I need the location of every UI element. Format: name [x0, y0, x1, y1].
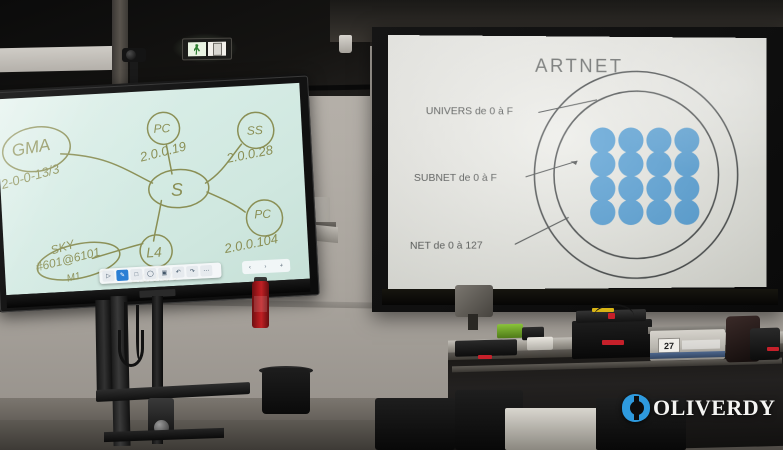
svg-text:SS: SS — [246, 123, 263, 138]
page-next-icon[interactable]: › — [264, 263, 266, 269]
coiled-cable — [118, 330, 144, 367]
artnet-diagram — [388, 35, 766, 290]
subnet-label: SUBNET de 0 à F — [414, 172, 497, 184]
rack-handle-red — [602, 340, 624, 345]
crate-number-tag: 27 — [658, 338, 680, 354]
page-add-icon[interactable]: + — [280, 263, 284, 269]
wall-light-panel — [0, 46, 122, 73]
univers-label: UNIVERS de 0 à F — [426, 105, 513, 117]
equipment-item-fixture — [750, 328, 780, 361]
page-prev-icon[interactable]: ‹ — [249, 264, 251, 270]
svg-text:GMA: GMA — [10, 135, 51, 160]
net-label: NET de 0 à 127 — [410, 240, 483, 252]
wall-mounted-device-secondary — [316, 225, 338, 243]
camera-lens-icon — [126, 50, 136, 60]
floor-case-left — [375, 398, 455, 450]
oliverdy-logo: OLIVERDY — [622, 394, 776, 422]
smoke-detector — [339, 35, 352, 53]
oliverdy-logo-mark-icon — [622, 394, 650, 422]
svg-text:L4: L4 — [146, 244, 163, 261]
image-tool-icon[interactable]: ▣ — [158, 267, 171, 279]
projection-screen-bottom-bar — [382, 289, 778, 305]
fixture-red-indicator — [767, 347, 779, 351]
emergency-exit-sign — [182, 38, 232, 61]
net-leader-line — [515, 217, 569, 244]
redo-tool-icon[interactable]: ↷ — [186, 266, 199, 278]
svg-text:2.0.0.19: 2.0.0.19 — [137, 138, 187, 164]
more-tool-icon[interactable]: ⋯ — [200, 265, 213, 277]
svg-text:PC: PC — [254, 207, 272, 222]
exit-door-icon — [208, 42, 226, 56]
pen-tool-icon[interactable]: ✎ — [116, 269, 129, 281]
subnet-leader-line — [526, 161, 578, 177]
select-tool-icon[interactable]: ▷ — [102, 270, 115, 282]
whiteboard-page-controls[interactable]: ‹ › + — [242, 259, 291, 275]
interactive-display[interactable]: GMA 2-0-0-13/3 PC 2.0.0.19 SS 2.0.0.28 S… — [0, 73, 320, 312]
svg-text:2.0.0.104: 2.0.0.104 — [222, 231, 279, 256]
svg-text:S: S — [170, 179, 183, 200]
projection-screen-surface: ARTNET — [388, 35, 766, 290]
floor-white-case — [505, 408, 600, 450]
svg-text:M1: M1 — [66, 271, 82, 285]
eraser-tool-icon[interactable]: □ — [130, 269, 143, 281]
undo-tool-icon[interactable]: ↶ — [172, 266, 185, 278]
oliverdy-logo-text: OLIVERDY — [653, 395, 776, 421]
fire-extinguisher-label — [254, 296, 267, 312]
equipment-red-indicator — [478, 355, 492, 359]
svg-text:PC: PC — [153, 121, 171, 136]
projection-screen: ARTNET — [372, 27, 783, 312]
projector-wall-mount — [455, 285, 493, 317]
wall-pillar — [112, 0, 128, 92]
exit-running-man-icon — [188, 42, 206, 56]
screenshot-scene: GMA 2-0-0-13/3 PC 2.0.0.19 SS 2.0.0.28 S… — [0, 0, 783, 450]
projector-mount-neck — [468, 314, 478, 330]
equipment-item-white-module — [527, 337, 553, 351]
universe-dot-grid — [590, 127, 699, 225]
crate-label-strip — [682, 340, 720, 350]
equipment-item-green-box — [497, 324, 523, 339]
equipment-item-rack-case — [572, 319, 652, 359]
shapes-tool-icon[interactable]: ◯ — [144, 268, 157, 280]
svg-text:2.0.0.28: 2.0.0.28 — [224, 142, 275, 166]
trash-bin — [262, 368, 310, 414]
